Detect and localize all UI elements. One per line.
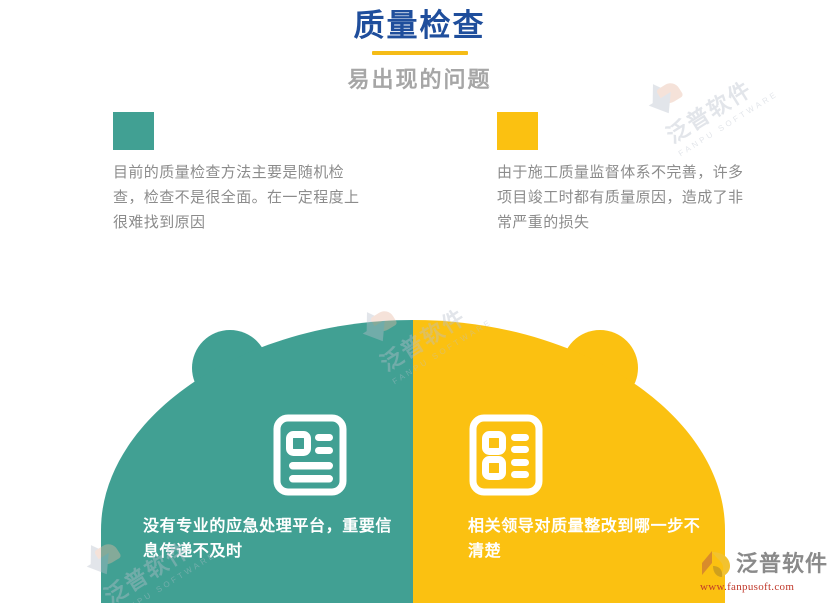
fanpu-swoosh-icon (700, 549, 732, 579)
panel-caption-right: 相关领导对质量整改到哪一步不清楚 (468, 514, 708, 564)
fanpu-logo-url: www.fanpusoft.com (700, 581, 832, 593)
grid-list-icon (468, 413, 544, 497)
article-list-icon (272, 413, 348, 497)
infographic-canvas: 质量检查 易出现的问题 目前的质量检查方法主要是随机检查，检查不是很全面。在一定… (0, 0, 839, 603)
panel-caption-left: 没有专业的应急处理平台，重要信息传递不及时 (143, 514, 393, 564)
fanpu-logo-text: 泛普软件 (736, 551, 828, 577)
dome-icons (0, 0, 839, 603)
fanpu-logo: 泛普软件 www.fanpusoft.com (700, 548, 832, 596)
